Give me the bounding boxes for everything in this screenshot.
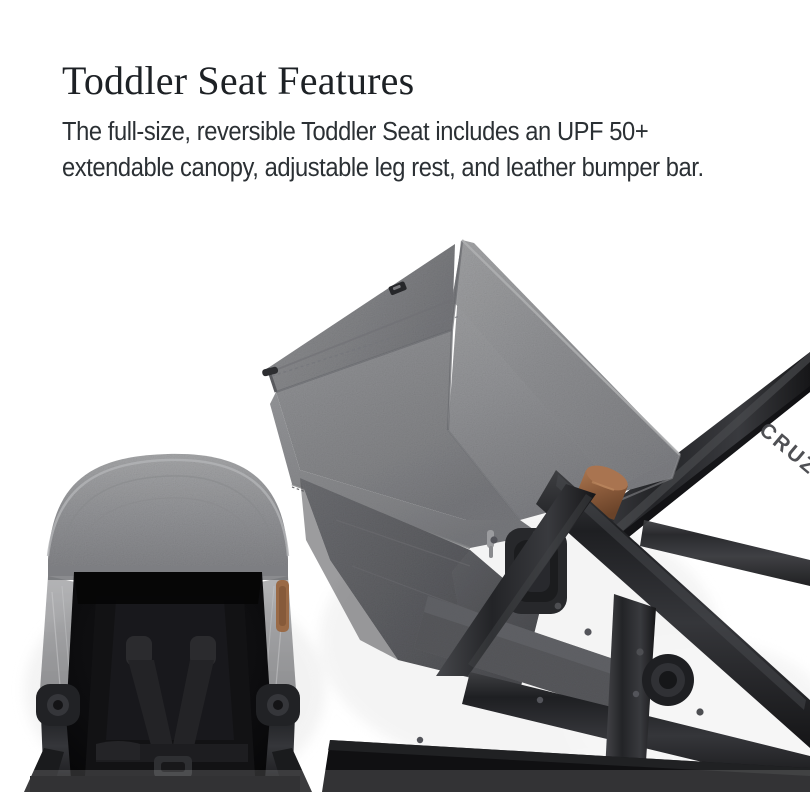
page-title: Toddler Seat Features	[62, 58, 722, 104]
recline-hub-left	[36, 684, 80, 726]
feature-text-block: Toddler Seat Features The full-size, rev…	[62, 58, 722, 186]
stroller-front-view	[24, 454, 312, 792]
leather-strap-tab	[276, 580, 289, 632]
page-description: The full-size, reversible Toddler Seat i…	[62, 114, 722, 186]
product-feature-card: CRUZ	[0, 0, 810, 810]
recline-hub-right	[256, 684, 300, 726]
bottom-white-strip	[0, 792, 810, 810]
